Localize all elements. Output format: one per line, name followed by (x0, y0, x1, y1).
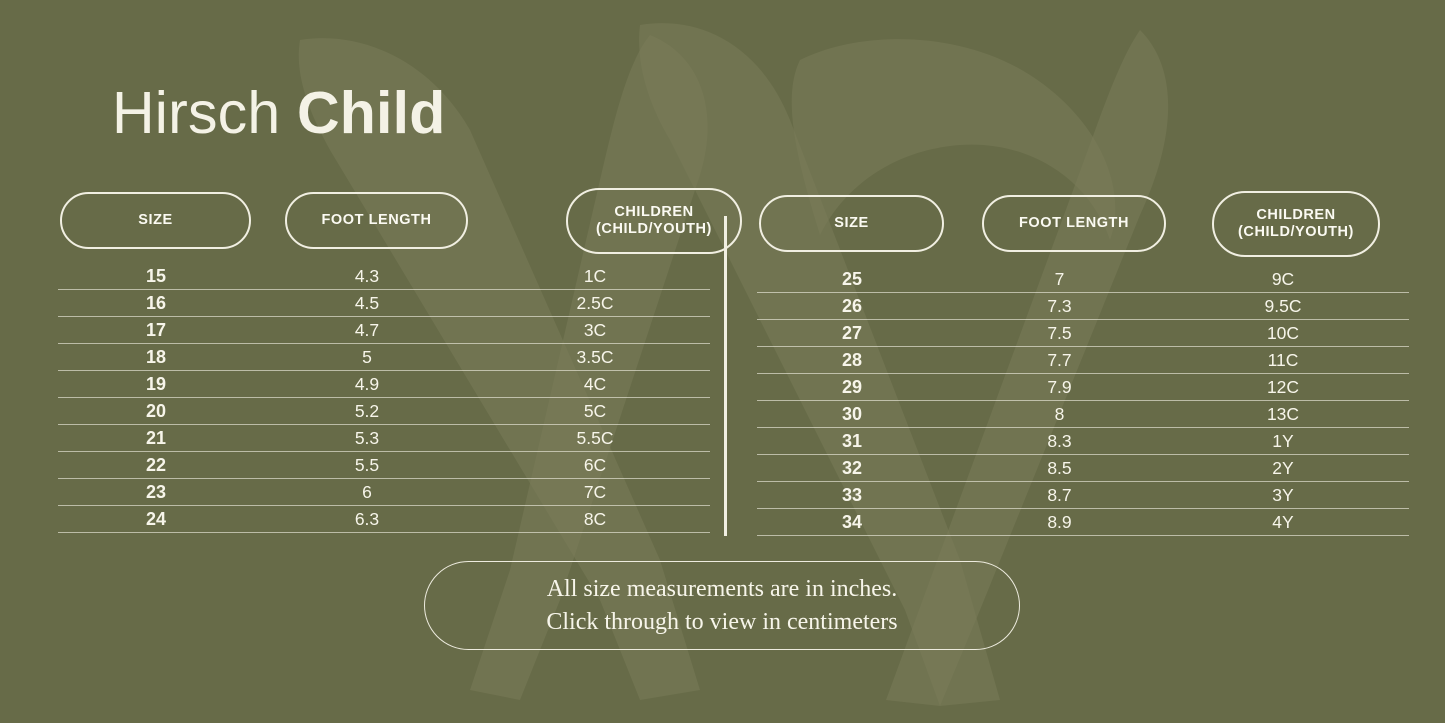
cell-foot-length: 4.7 (254, 317, 480, 344)
table-row: 33 8.7 3Y (757, 482, 1409, 509)
table-row: 17 4.7 3C (58, 317, 710, 344)
cell-size: 30 (757, 401, 947, 428)
cell-children: 2Y (1172, 455, 1394, 482)
cell-children: 9C (1172, 266, 1394, 293)
cell-children: 8C (480, 506, 710, 533)
cell-size: 33 (757, 482, 947, 509)
table-row: 31 8.3 1Y (757, 428, 1409, 455)
table-row: 26 7.3 9.5C (757, 293, 1409, 320)
cell-foot-length: 8 (947, 401, 1172, 428)
cell-foot-length: 8.5 (947, 455, 1172, 482)
cell-size: 23 (58, 479, 254, 506)
table-row: 15 4.3 1C (58, 263, 710, 290)
table-row: 29 7.9 12C (757, 374, 1409, 401)
table-row: 27 7.5 10C (757, 320, 1409, 347)
measurement-note[interactable]: All size measurements are in inches. Cli… (424, 561, 1020, 650)
column-header-children-line2: (CHILD/YOUTH) (596, 221, 712, 238)
cell-size: 17 (58, 317, 254, 344)
table-row: 23 6 7C (58, 479, 710, 506)
cell-children: 5C (480, 398, 710, 425)
cell-children: 3Y (1172, 482, 1394, 509)
cell-size: 24 (58, 506, 254, 533)
cell-size: 25 (757, 266, 947, 293)
cell-foot-length: 7.9 (947, 374, 1172, 401)
table-row: 25 7 9C (757, 266, 1409, 293)
cell-children: 3.5C (480, 344, 710, 371)
table-left-header-row: SIZE FOOT LENGTH CHILDREN (CHILD/YOUTH) (58, 188, 710, 252)
table-right-header-row: SIZE FOOT LENGTH CHILDREN (CHILD/YOUTH) (757, 191, 1409, 255)
cell-children: 4C (480, 371, 710, 398)
table-row: 24 6.3 8C (58, 506, 710, 533)
cell-size: 26 (757, 293, 947, 320)
table-left-body: 15 4.3 1C 16 4.5 2.5C 17 4.7 3C 18 5 (58, 263, 710, 533)
cell-foot-length: 8.3 (947, 428, 1172, 455)
cell-foot-length: 5.5 (254, 452, 480, 479)
cell-children: 13C (1172, 401, 1394, 428)
table-row: 28 7.7 11C (757, 347, 1409, 374)
table-right-body: 25 7 9C 26 7.3 9.5C 27 7.5 10C 28 7.7 (757, 266, 1409, 536)
cell-children: 6C (480, 452, 710, 479)
cell-children: 1C (480, 263, 710, 290)
cell-size: 28 (757, 347, 947, 374)
column-header-size-label: SIZE (138, 212, 172, 229)
table-row: 22 5.5 6C (58, 452, 710, 479)
cell-size: 32 (757, 455, 947, 482)
cell-children: 1Y (1172, 428, 1394, 455)
cell-size: 29 (757, 374, 947, 401)
cell-children: 7C (480, 479, 710, 506)
cell-foot-length: 7.7 (947, 347, 1172, 374)
cell-size: 20 (58, 398, 254, 425)
table-row: 20 5.2 5C (58, 398, 710, 425)
cell-size: 15 (58, 263, 254, 290)
table-row: 34 8.9 4Y (757, 509, 1409, 536)
column-header-foot-length: FOOT LENGTH (982, 195, 1166, 252)
table-row: 16 4.5 2.5C (58, 290, 710, 317)
column-header-foot-length-label: FOOT LENGTH (322, 212, 432, 229)
cell-size: 27 (757, 320, 947, 347)
cell-foot-length: 7 (947, 266, 1172, 293)
size-table-right: SIZE FOOT LENGTH CHILDREN (CHILD/YOUTH) … (757, 191, 1409, 536)
cell-size: 19 (58, 371, 254, 398)
measurement-note-line1: All size measurements are in inches. (547, 573, 898, 606)
table-row: 21 5.3 5.5C (58, 425, 710, 452)
table-row: 30 8 13C (757, 401, 1409, 428)
cell-foot-length: 7.3 (947, 293, 1172, 320)
column-header-foot-length-label: FOOT LENGTH (1019, 215, 1129, 232)
cell-children: 12C (1172, 374, 1394, 401)
table-row: 18 5 3.5C (58, 344, 710, 371)
cell-foot-length: 5.2 (254, 398, 480, 425)
cell-children: 5.5C (480, 425, 710, 452)
cell-foot-length: 4.5 (254, 290, 480, 317)
cell-foot-length: 6 (254, 479, 480, 506)
cell-size: 21 (58, 425, 254, 452)
column-header-children-line2: (CHILD/YOUTH) (1238, 224, 1354, 241)
table-row: 32 8.5 2Y (757, 455, 1409, 482)
table-divider (724, 216, 727, 536)
column-header-size: SIZE (759, 195, 944, 252)
cell-size: 16 (58, 290, 254, 317)
cell-foot-length: 6.3 (254, 506, 480, 533)
cell-foot-length: 5 (254, 344, 480, 371)
column-header-children: CHILDREN (CHILD/YOUTH) (566, 188, 742, 254)
cell-foot-length: 8.7 (947, 482, 1172, 509)
size-chart-page: Hirsch Child SIZE FOOT LENGTH CHILDREN (… (0, 0, 1445, 723)
cell-children: 2.5C (480, 290, 710, 317)
cell-size: 18 (58, 344, 254, 371)
cell-children: 4Y (1172, 509, 1394, 536)
cell-children: 11C (1172, 347, 1394, 374)
cell-size: 31 (757, 428, 947, 455)
column-header-foot-length: FOOT LENGTH (285, 192, 468, 249)
cell-size: 22 (58, 452, 254, 479)
size-table-left: SIZE FOOT LENGTH CHILDREN (CHILD/YOUTH) … (58, 188, 710, 533)
cell-foot-length: 8.9 (947, 509, 1172, 536)
column-header-children-line1: CHILDREN (1238, 207, 1354, 224)
measurement-note-line2: Click through to view in centimeters (546, 606, 897, 639)
cell-children: 9.5C (1172, 293, 1394, 320)
column-header-size: SIZE (60, 192, 251, 249)
cell-foot-length: 5.3 (254, 425, 480, 452)
cell-children: 10C (1172, 320, 1394, 347)
cell-foot-length: 7.5 (947, 320, 1172, 347)
cell-size: 34 (757, 509, 947, 536)
table-row: 19 4.9 4C (58, 371, 710, 398)
column-header-children: CHILDREN (CHILD/YOUTH) (1212, 191, 1380, 257)
column-header-size-label: SIZE (834, 215, 868, 232)
column-header-children-line1: CHILDREN (596, 204, 712, 221)
cell-foot-length: 4.3 (254, 263, 480, 290)
cell-children: 3C (480, 317, 710, 344)
cell-foot-length: 4.9 (254, 371, 480, 398)
